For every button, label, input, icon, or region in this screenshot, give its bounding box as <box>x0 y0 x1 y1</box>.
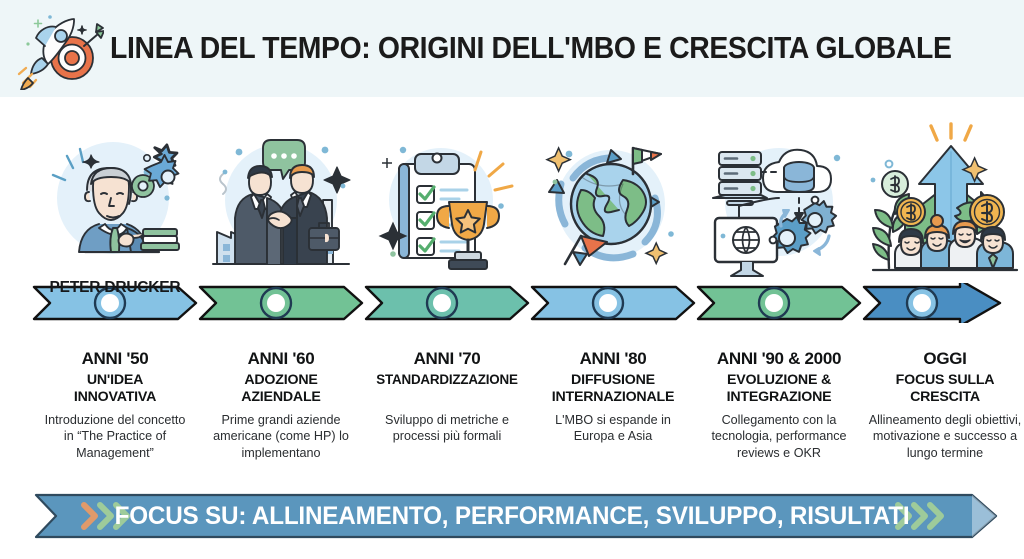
timeline-column-3: ANNI '70 STANDARDIZZAZIONE Sviluppo di m… <box>364 100 530 490</box>
column-5-era: ANNI '90 & 2000 <box>717 349 841 369</box>
column-2-illustration <box>205 100 357 278</box>
footer-banner: FOCUS SU: ALLINEAMENTO, PERFORMANCE, SVI… <box>0 487 1024 545</box>
column-2-subtitle: ADOZIONE AZIENDALE <box>241 372 320 405</box>
column-4-subtitle-line-1: DIFFUSIONE <box>552 372 675 389</box>
column-3-subtitle: STANDARDIZZAZIONE <box>376 372 517 388</box>
header-band: LINEA DEL TEMPO: ORIGINI DELL'MBO E CRES… <box>0 0 1024 97</box>
column-4-era: ANNI '80 <box>580 349 647 369</box>
page-title: LINEA DEL TEMPO: ORIGINI DELL'MBO E CRES… <box>110 31 952 66</box>
infographic-root: LINEA DEL TEMPO: ORIGINI DELL'MBO E CRES… <box>0 0 1024 559</box>
column-6-subtitle: FOCUS SULLA CRESCITA <box>896 372 995 405</box>
column-1-subtitle: UN'IDEA INNOVATIVA <box>74 372 156 405</box>
column-6-subtitle-line-2: CRESCITA <box>896 389 995 406</box>
column-5-subtitle-line-2: INTEGRAZIONE <box>727 389 832 406</box>
column-2-subtitle-line-1: ADOZIONE <box>241 372 320 389</box>
globe-flags-arrows-icon <box>537 128 689 278</box>
timeline-columns: PETER DRUCKER ANNI '50 UN'IDEA INNOVATIV… <box>0 100 1024 490</box>
footer-ribbon <box>0 487 1024 545</box>
column-6-subtitle-line-1: FOCUS SULLA <box>896 372 995 389</box>
server-cloud-gears-monitor-icon <box>703 128 855 278</box>
column-2-era: ANNI '60 <box>248 349 315 369</box>
clipboard-checklist-trophy-icon <box>371 128 523 278</box>
timeline-column-1: PETER DRUCKER ANNI '50 UN'IDEA INNOVATIV… <box>32 100 198 490</box>
column-3-era: ANNI '70 <box>414 349 481 369</box>
column-1-description: Introduzione del concetto in “The Practi… <box>40 412 190 461</box>
column-5-description: Collegamento con la tecnologia, performa… <box>699 412 859 461</box>
timeline-column-5: ANNI '90 & 2000 EVOLUZIONE & INTEGRAZION… <box>696 100 862 490</box>
column-1-subtitle-line-2: INNOVATIVA <box>74 389 156 406</box>
column-5-illustration <box>703 100 855 278</box>
peter-drucker-thinking-icon <box>39 128 191 278</box>
column-3-illustration <box>371 100 523 278</box>
column-5-subtitle-line-1: EVOLUZIONE & <box>727 372 832 389</box>
column-3-description: Sviluppo di metriche e processi più form… <box>372 412 522 444</box>
column-6-era: OGGI <box>923 349 966 369</box>
business-handshake-factory-icon <box>205 128 357 278</box>
column-1-subtitle-line-1: UN'IDEA <box>74 372 156 389</box>
timeline-column-6: OGGI FOCUS SULLA CRESCITA Allineamento d… <box>862 100 1024 490</box>
rocket-target-icon <box>12 8 104 90</box>
column-4-subtitle: DIFFUSIONE INTERNAZIONALE <box>552 372 675 405</box>
column-3-subtitle-line-1: STANDARDIZZAZIONE <box>376 372 517 388</box>
column-6-illustration <box>865 100 1024 278</box>
drucker-caption: PETER DRUCKER <box>50 279 181 297</box>
column-6-description: Allineamento degli obiettivi, motivazion… <box>865 412 1024 461</box>
growth-arrow-team-coins-icon <box>865 122 1024 284</box>
timeline-column-2: ANNI '60 ADOZIONE AZIENDALE Prime grandi… <box>198 100 364 490</box>
column-1-illustration <box>39 100 191 278</box>
column-5-subtitle: EVOLUZIONE & INTEGRAZIONE <box>727 372 832 405</box>
column-2-subtitle-line-2: AZIENDALE <box>241 389 320 406</box>
column-1-era: ANNI '50 <box>82 349 149 369</box>
column-4-illustration <box>537 100 689 278</box>
timeline-column-4: ANNI '80 DIFFUSIONE INTERNAZIONALE L'MBO… <box>530 100 696 490</box>
column-4-subtitle-line-2: INTERNAZIONALE <box>552 389 675 406</box>
column-4-description: L'MBO si espande in Europa e Asia <box>538 412 688 444</box>
column-2-description: Prime grandi aziende americane (come HP)… <box>206 412 356 461</box>
